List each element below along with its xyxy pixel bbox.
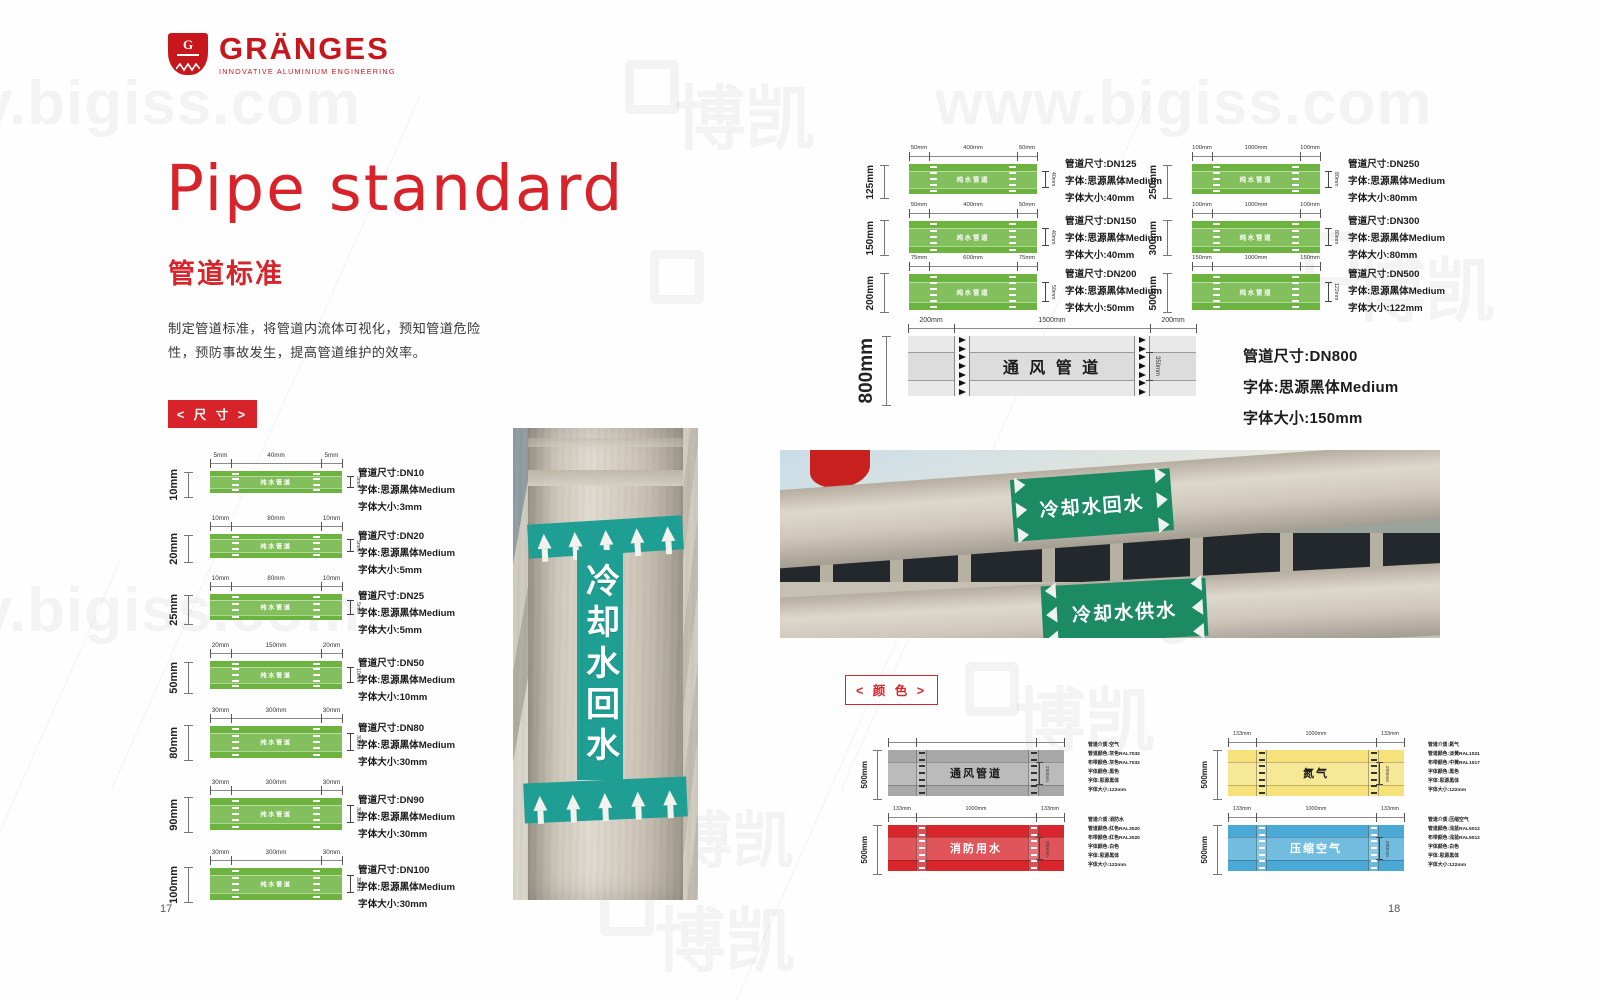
color-spec-line: 字体大小:122mm xyxy=(1088,787,1140,796)
spec-font: 字体:思源黑体Medium xyxy=(358,605,455,622)
spec-row: 80mm30mm300mm30mm纯水管道30mm管道尺寸:DN80字体:思源黑… xyxy=(168,710,498,768)
pipe-band: 纯水管道 xyxy=(210,726,342,758)
color-spec-row: 500mm133mm1000mm133mm氮气200mm管道介质:氮气管道颜色:… xyxy=(1200,730,1530,802)
color-spec-line: 管道颜色:浅蓝RAL5012 xyxy=(1428,826,1480,835)
spec-font: 字体:思源黑体Medium xyxy=(358,879,455,896)
spec-text-block: 管道尺寸:DN10字体:思源黑体Medium字体大小:3mm xyxy=(358,465,455,516)
photo-wrap-upper: 冷却水回水 xyxy=(1010,468,1174,542)
color-spec-line: 字体:思源黑体 xyxy=(1428,853,1480,862)
spec-text-block: 管道尺寸:DN25字体:思源黑体Medium字体大小:5mm xyxy=(358,588,455,639)
pipe-band: 纯水管道 xyxy=(210,798,342,830)
pipe-band-text: 纯水管道 xyxy=(1192,175,1320,184)
granges-shield-icon: G xyxy=(168,33,208,75)
spec-row: 10mm5mm40mm5mm纯水管道3mm管道尺寸:DN10字体:思源黑体Med… xyxy=(168,455,498,503)
spec-font: 字体:思源黑体Medium xyxy=(358,545,455,562)
spec-size: 字体大小:5mm xyxy=(358,562,455,579)
swatch-height-label: 500mm xyxy=(860,836,869,864)
spec-size: 字体大小:30mm xyxy=(358,826,455,843)
spec-font: 字体:思源黑体Medium xyxy=(358,809,455,826)
spec-text-block: 管道尺寸:DN90字体:思源黑体Medium字体大小:30mm xyxy=(358,792,455,843)
pipe-band: 纯水管道 xyxy=(1192,274,1320,310)
spec-row: 500mm150mm1000mm150mm纯水管道122mm管道尺寸:DN500… xyxy=(1148,258,1448,318)
duct-inner-dimension: 350mm xyxy=(1146,352,1160,381)
spec-dn: 管道尺寸:DN300 xyxy=(1348,213,1445,230)
pipe-height-label: 10mm xyxy=(168,469,180,501)
spec-row: 90mm30mm300mm30mm纯水管道30mm管道尺寸:DN90字体:思源黑… xyxy=(168,782,498,840)
band-inner-dimension: 80mm xyxy=(1325,171,1339,188)
spec-font: 字体:思源黑体Medium xyxy=(358,482,455,499)
pipe-band-text: 纯水管道 xyxy=(210,671,342,680)
pipe-height-label: 200mm xyxy=(865,276,876,310)
pipe-band-text: 纯水管道 xyxy=(1192,288,1320,297)
page-number-left: 17 xyxy=(160,903,172,915)
brand-guideline-spread: v.bigiss.com www.bigiss.com v.bigiss.com… xyxy=(0,0,1600,1000)
badge-color: < 颜 色 > xyxy=(845,675,938,705)
pipe-band: 纯水管道 xyxy=(210,534,342,558)
duct-size: 字体大小:150mm xyxy=(1243,404,1399,435)
spec-font: 字体:思源黑体Medium xyxy=(358,672,455,689)
band-inner-dimension: 80mm xyxy=(1325,228,1339,246)
logo-bar xyxy=(177,54,199,56)
pipe-band-text: 纯水管道 xyxy=(909,175,1037,184)
color-spec-text: 管道介质:氮气管道颜色:淡黄RAL1021布带颜色:中黄RAL1017字体颜色:… xyxy=(1428,742,1480,796)
color-spec-line: 布带颜色:中黄RAL1017 xyxy=(1428,760,1480,769)
color-spec-line: 字体大小:122mm xyxy=(1428,787,1480,796)
spec-dn: 管道尺寸:DN10 xyxy=(358,465,455,482)
pipe-band-text: 纯水管道 xyxy=(909,288,1037,297)
intro-paragraph: 制定管道标准，将管道内流体可视化，预知管道危险性，预防事故发生，提高管道维护的效… xyxy=(168,317,488,366)
color-spec-line: 管道颜色:淡黄RAL1021 xyxy=(1428,751,1480,760)
pipe-band-text: 纯水管道 xyxy=(210,542,342,551)
swatch-inner-dimension: 200mm xyxy=(1376,837,1389,860)
granges-logo: G GRÄNGES INNOVATIVE ALUMINIUM ENGINEERI… xyxy=(168,33,396,76)
duct-font: 字体:思源黑体Medium xyxy=(1243,373,1399,404)
duct-dn: 管道尺寸:DN800 xyxy=(1243,342,1399,373)
swatch-height-label: 500mm xyxy=(1200,836,1209,864)
pipe-height-label: 90mm xyxy=(168,799,180,831)
pipe-band: 纯水管道 xyxy=(210,661,342,689)
photo-wrap-lower: 冷却水供水 xyxy=(1041,578,1209,638)
spec-row: 100mm30mm300mm30mm纯水管道30mm管道尺寸:DN100字体:思… xyxy=(168,852,498,910)
duct-spec-text: 管道尺寸:DN800字体:思源黑体Medium字体大小:150mm xyxy=(1243,342,1399,434)
brand-tagline: INNOVATIVE ALUMINIUM ENGINEERING xyxy=(219,67,396,76)
pipe-band: 纯水管道 xyxy=(210,471,342,493)
spec-row: 50mm20mm150mm20mm纯水管道10mm管道尺寸:DN50字体:思源黑… xyxy=(168,645,498,699)
duct-height-label: 800mm xyxy=(856,338,878,404)
band-inner-dimension: 40mm xyxy=(1042,228,1056,246)
color-spec-line: 管道颜色:红色RAL3020 xyxy=(1088,826,1140,835)
pipe-height-label: 500mm xyxy=(1148,276,1159,310)
pipe-band: 纯水管道 xyxy=(1192,221,1320,253)
color-spec-line: 管道介质:空气 xyxy=(1088,742,1140,751)
spec-row: 300mm100mm1000mm100mm纯水管道80mm管道尺寸:DN300字… xyxy=(1148,205,1448,261)
spec-row: 125mm50mm400mm50mm纯水管道40mm管道尺寸:DN125字体:思… xyxy=(865,148,1165,202)
color-spec-line: 字体大小:122mm xyxy=(1428,862,1480,871)
color-spec-row: 500mm通风管道200mm管道介质:空气管道颜色:灰色RAL7032布带颜色:… xyxy=(860,730,1190,802)
pipe-height-label: 100mm xyxy=(168,866,180,904)
logo-letter: G xyxy=(168,37,208,53)
color-spec-text: 管道介质:压缩空气管道颜色:浅蓝RAL5012布带颜色:浅蓝RAL5012字体颜… xyxy=(1428,817,1480,871)
pipe-band: 纯水管道 xyxy=(909,164,1037,194)
color-spec-row: 500mm133mm1000mm133mm压缩空气200mm管道介质:压缩空气管… xyxy=(1200,805,1530,877)
color-spec-line: 字体:思源黑体 xyxy=(1088,853,1140,862)
color-spec-line: 布带颜色:红色RAL3020 xyxy=(1088,835,1140,844)
color-spec-text: 管道介质:消防水管道颜色:红色RAL3020布带颜色:红色RAL3020字体颜色… xyxy=(1088,817,1140,871)
pipe-band: 纯水管道 xyxy=(1192,164,1320,194)
color-spec-text: 管道介质:空气管道颜色:灰色RAL7032布带颜色:灰色RAL7032字体颜色:… xyxy=(1088,742,1140,796)
pipe-band-text: 纯水管道 xyxy=(210,738,342,747)
page-number-right: 18 xyxy=(1388,903,1400,915)
logo-wave-icon xyxy=(176,59,200,69)
spec-text-block: 管道尺寸:DN500字体:思源黑体Medium字体大小:122mm xyxy=(1348,266,1445,317)
spec-row: 150mm50mm400mm50mm纯水管道40mm管道尺寸:DN150字体:思… xyxy=(865,205,1165,261)
pipe-height-label: 150mm xyxy=(865,221,876,255)
spec-size: 字体大小:3mm xyxy=(358,499,455,516)
brand-name: GRÄNGES xyxy=(219,33,396,64)
photo-wrap-upper-text: 冷却水回水 xyxy=(1039,488,1146,523)
photo-wrap-lower-text: 冷却水供水 xyxy=(1071,595,1177,627)
spec-font: 字体:思源黑体Medium xyxy=(1348,283,1445,300)
swatch-height-label: 500mm xyxy=(860,761,869,789)
color-spec-line: 字体:思源黑体 xyxy=(1088,778,1140,787)
swatch-inner-dimension: 200mm xyxy=(1376,762,1389,785)
spec-row: 20mm10mm80mm10mm纯水管道5mm管道尺寸:DN20字体:思源黑体M… xyxy=(168,518,498,568)
spec-row: 200mm75mm600mm75mm纯水管道50mm管道尺寸:DN200字体:思… xyxy=(865,258,1165,318)
pipe-band-text: 纯水管道 xyxy=(1192,233,1320,242)
pipe-height-label: 300mm xyxy=(1148,221,1159,255)
color-spec-line: 字体:思源黑体 xyxy=(1428,778,1480,787)
pipe-band-text: 纯水管道 xyxy=(210,478,342,487)
spec-dn: 管道尺寸:DN250 xyxy=(1348,156,1445,173)
spec-dn: 管道尺寸:DN80 xyxy=(358,720,455,737)
spec-dn: 管道尺寸:DN20 xyxy=(358,528,455,545)
band-inner-dimension: 50mm xyxy=(1042,282,1056,302)
photo-band-text-vertical: 冷却水回水 xyxy=(577,550,623,780)
spec-dn: 管道尺寸:DN500 xyxy=(1348,266,1445,283)
badge-size: < 尺 寸 > xyxy=(168,400,257,428)
spec-text-block: 管道尺寸:DN250字体:思源黑体Medium字体大小:80mm xyxy=(1348,156,1445,207)
right-page: A 基本原则 Basic Principle 125mm50mm400mm50m… xyxy=(780,0,1600,1000)
color-spec-line: 布带颜色:灰色RAL7032 xyxy=(1088,760,1140,769)
pipe-band: 纯水管道 xyxy=(909,221,1037,253)
color-spec-line: 字体颜色:黑色 xyxy=(1428,769,1480,778)
spec-dn: 管道尺寸:DN50 xyxy=(358,655,455,672)
spec-dn: 管道尺寸:DN100 xyxy=(358,862,455,879)
spec-text-block: 管道尺寸:DN300字体:思源黑体Medium字体大小:80mm xyxy=(1348,213,1445,264)
color-spec-line: 管道介质:消防水 xyxy=(1088,817,1140,826)
spec-dn: 管道尺寸:DN25 xyxy=(358,588,455,605)
color-spec-line: 字体颜色:黑色 xyxy=(1088,769,1140,778)
color-spec-line: 布带颜色:浅蓝RAL5012 xyxy=(1428,835,1480,844)
color-spec-line: 字体颜色:白色 xyxy=(1428,844,1480,853)
pipe-height-label: 250mm xyxy=(1148,165,1159,199)
spec-dn: 管道尺寸:DN90 xyxy=(358,792,455,809)
duct-row: 800mm200mm1500mm200mm通 风 管 道350mm管道尺寸:DN… xyxy=(780,312,1600,422)
page-title-cn: 管道标准 xyxy=(168,252,284,291)
pipe-band-text: 纯水管道 xyxy=(210,603,342,612)
left-page: G GRÄNGES INNOVATIVE ALUMINIUM ENGINEERI… xyxy=(0,0,780,1000)
color-spec-line: 字体颜色:白色 xyxy=(1088,844,1140,853)
band-inner-dimension: 122mm xyxy=(1325,282,1339,302)
spec-font: 字体:思源黑体Medium xyxy=(1348,230,1445,247)
pipe-height-label: 125mm xyxy=(865,165,876,199)
swatch-inner-dimension: 200mm xyxy=(1036,837,1049,860)
color-spec-line: 管道颜色:灰色RAL7032 xyxy=(1088,751,1140,760)
spec-size: 字体大小:30mm xyxy=(358,754,455,771)
pipe-height-label: 20mm xyxy=(168,533,180,565)
pipe-height-label: 25mm xyxy=(168,594,180,626)
spec-text-block: 管道尺寸:DN80字体:思源黑体Medium字体大小:30mm xyxy=(358,720,455,771)
swatch-inner-dimension: 200mm xyxy=(1036,762,1049,785)
spec-size: 字体大小:10mm xyxy=(358,689,455,706)
pipe-band-text: 纯水管道 xyxy=(210,810,342,819)
pipe-band-text: 纯水管道 xyxy=(210,880,342,889)
color-spec-row: 500mm133mm1000mm133mm消防用水200mm管道介质:消防水管道… xyxy=(860,805,1190,877)
spec-text-block: 管道尺寸:DN20字体:思源黑体Medium字体大小:5mm xyxy=(358,528,455,579)
spec-font: 字体:思源黑体Medium xyxy=(1348,173,1445,190)
spec-text-block: 管道尺寸:DN50字体:思源黑体Medium字体大小:10mm xyxy=(358,655,455,706)
pipe-band: 纯水管道 xyxy=(210,594,342,620)
spec-row: 250mm100mm1000mm100mm纯水管道80mm管道尺寸:DN250字… xyxy=(1148,148,1448,202)
photo-band-arrows-lower xyxy=(523,776,687,823)
pipe-band: 纯水管道 xyxy=(909,274,1037,310)
pipe-band: 纯水管道 xyxy=(210,868,342,900)
photo-horizontal-pipes: 冷却水回水 冷却水供水 xyxy=(780,450,1440,638)
color-spec-line: 管道介质:压缩空气 xyxy=(1428,817,1480,826)
photo-column-cooling-water-return: 冷却水回水 xyxy=(513,428,698,900)
page-title-en: Pipe standard xyxy=(166,152,624,225)
pipe-height-label: 50mm xyxy=(168,662,180,694)
pipe-band-text: 纯水管道 xyxy=(909,233,1037,242)
color-spec-line: 字体大小:122mm xyxy=(1088,862,1140,871)
spec-row: 25mm10mm80mm10mm纯水管道5mm管道尺寸:DN25字体:思源黑体M… xyxy=(168,578,498,630)
color-spec-line: 管道介质:氮气 xyxy=(1428,742,1480,751)
spec-text-block: 管道尺寸:DN100字体:思源黑体Medium字体大小:30mm xyxy=(358,862,455,913)
swatch-height-label: 500mm xyxy=(1200,761,1209,789)
spec-size: 字体大小:5mm xyxy=(358,622,455,639)
pipe-height-label: 80mm xyxy=(168,727,180,759)
band-inner-dimension: 40mm xyxy=(1042,171,1056,188)
spec-size: 字体大小:30mm xyxy=(358,896,455,913)
spec-font: 字体:思源黑体Medium xyxy=(358,737,455,754)
